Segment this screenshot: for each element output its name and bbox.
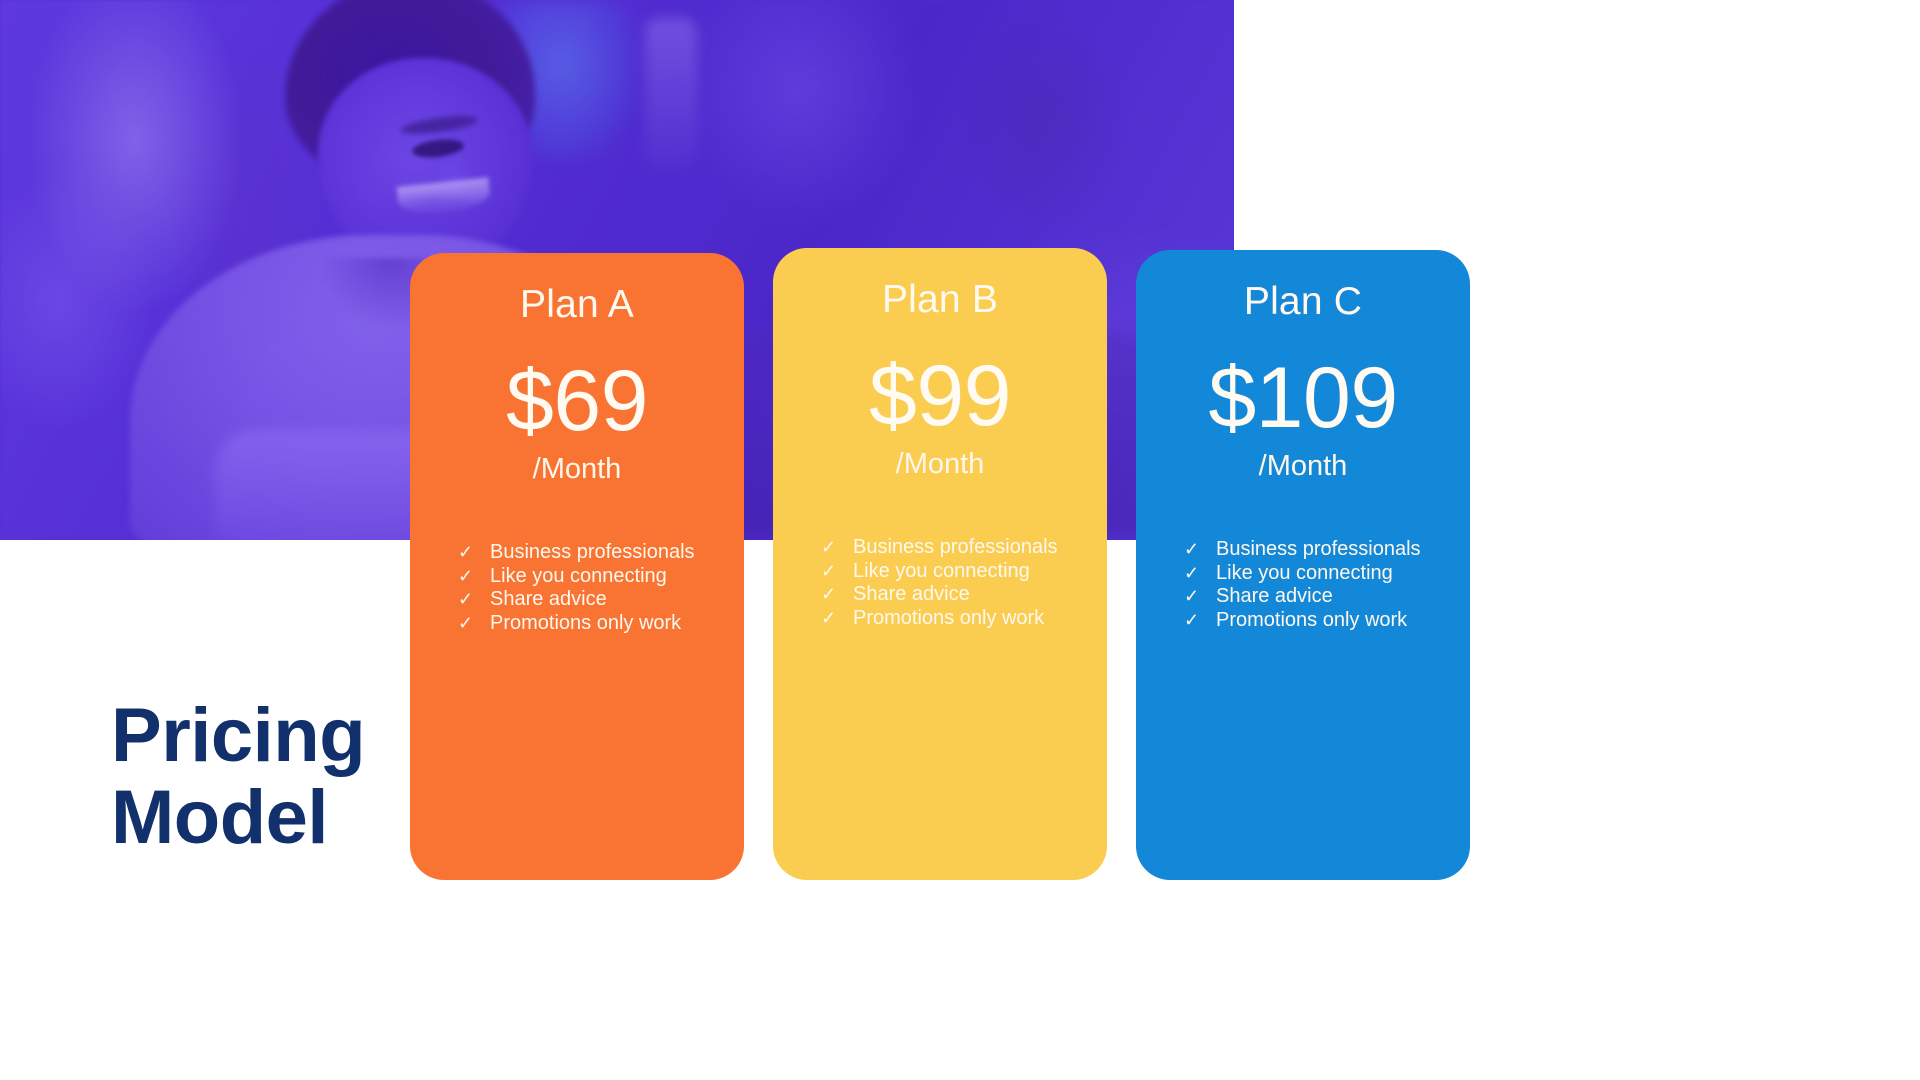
check-icon: ✓ — [1184, 562, 1216, 586]
plan-name: Plan A — [410, 283, 744, 327]
list-item: ✓ Promotions only work — [458, 612, 724, 636]
list-item: ✓ Promotions only work — [1184, 609, 1450, 633]
page-title: Pricing Model — [111, 695, 441, 859]
plan-feature-list: ✓ Business professionals ✓ Like you conn… — [1184, 538, 1450, 632]
pricing-card-plan-c[interactable]: Plan C $109 /Month ✓ Business profession… — [1136, 250, 1470, 880]
list-item: ✓ Business professionals — [458, 541, 724, 565]
feature-label: Business professionals — [490, 541, 695, 565]
check-icon: ✓ — [1184, 585, 1216, 609]
list-item: ✓ Share advice — [458, 588, 724, 612]
plan-feature-list: ✓ Business professionals ✓ Like you conn… — [458, 541, 724, 635]
pricing-slide: Pricing Model Plan A $69 /Month ✓ Busine… — [0, 0, 1920, 1080]
check-icon: ✓ — [821, 583, 853, 607]
check-icon: ✓ — [458, 612, 490, 636]
feature-label: Share advice — [490, 588, 607, 612]
check-icon: ✓ — [458, 565, 490, 589]
check-icon: ✓ — [458, 588, 490, 612]
feature-label: Share advice — [853, 583, 970, 607]
plan-price: $109 — [1136, 355, 1470, 441]
feature-label: Business professionals — [1216, 538, 1421, 562]
feature-label: Share advice — [1216, 585, 1333, 609]
check-icon: ✓ — [1184, 538, 1216, 562]
list-item: ✓ Business professionals — [821, 536, 1087, 560]
feature-label: Like you connecting — [1216, 562, 1393, 586]
plan-price: $69 — [410, 358, 744, 444]
list-item: ✓ Share advice — [821, 583, 1087, 607]
plan-period: /Month — [773, 448, 1107, 481]
plan-period: /Month — [1136, 450, 1470, 483]
plan-name: Plan C — [1136, 280, 1470, 324]
check-icon: ✓ — [1184, 609, 1216, 633]
list-item: ✓ Like you connecting — [1184, 562, 1450, 586]
plan-name: Plan B — [773, 278, 1107, 322]
list-item: ✓ Business professionals — [1184, 538, 1450, 562]
feature-label: Like you connecting — [490, 565, 667, 589]
plan-price: $99 — [773, 353, 1107, 439]
plan-feature-list: ✓ Business professionals ✓ Like you conn… — [821, 536, 1087, 630]
feature-label: Promotions only work — [853, 607, 1044, 631]
list-item: ✓ Like you connecting — [821, 560, 1087, 584]
list-item: ✓ Promotions only work — [821, 607, 1087, 631]
feature-label: Business professionals — [853, 536, 1058, 560]
check-icon: ✓ — [458, 541, 490, 565]
pricing-card-plan-b[interactable]: Plan B $99 /Month ✓ Business professiona… — [773, 248, 1107, 880]
check-icon: ✓ — [821, 607, 853, 631]
check-icon: ✓ — [821, 560, 853, 584]
plan-period: /Month — [410, 453, 744, 486]
feature-label: Promotions only work — [490, 612, 681, 636]
feature-label: Like you connecting — [853, 560, 1030, 584]
list-item: ✓ Like you connecting — [458, 565, 724, 589]
feature-label: Promotions only work — [1216, 609, 1407, 633]
pricing-card-plan-a[interactable]: Plan A $69 /Month ✓ Business professiona… — [410, 253, 744, 880]
check-icon: ✓ — [821, 536, 853, 560]
list-item: ✓ Share advice — [1184, 585, 1450, 609]
